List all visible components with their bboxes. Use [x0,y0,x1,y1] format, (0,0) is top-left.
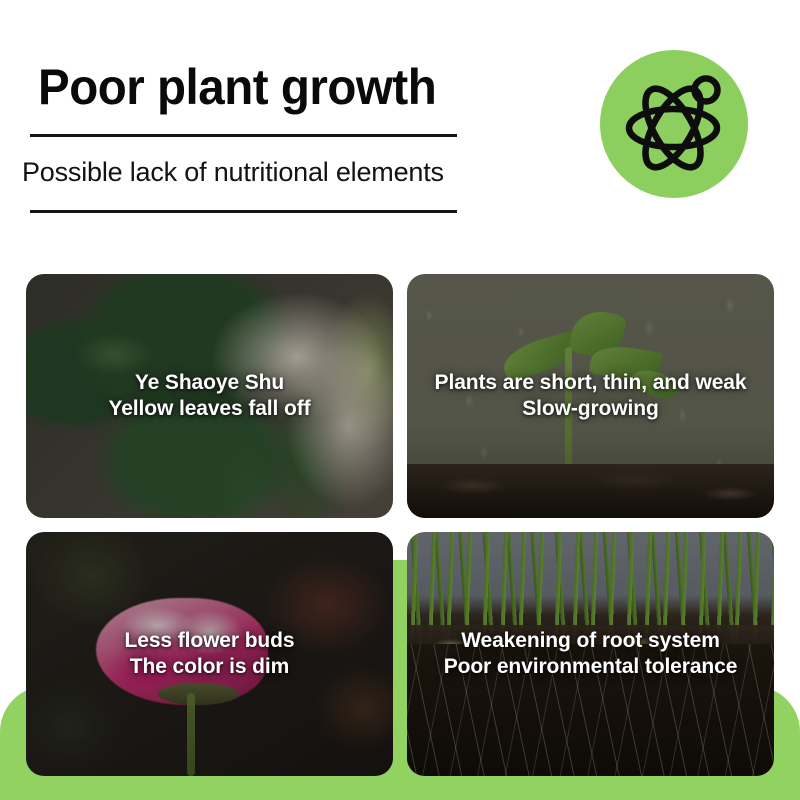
card-caption: Weakening of root system Poor environmen… [434,628,748,680]
card-caption-line1: Weakening of root system [461,629,720,652]
infographic-poster: Poor plant growth Possible lack of nutri… [0,0,800,800]
divider-top [30,134,457,137]
card-caption: Ye Shaoye Shu Yellow leaves fall off [98,370,320,422]
card-grid: Ye Shaoye Shu Yellow leaves fall off Pla… [26,274,774,776]
atom-badge [600,50,748,198]
card-weak-root-system[interactable]: Weakening of root system Poor environmen… [407,532,774,776]
card-fewer-flower-buds[interactable]: Less flower buds The color is dim [26,532,393,776]
card-caption: Less flower buds The color is dim [115,628,305,680]
card-caption: Plants are short, thin, and weak Slow-gr… [425,370,757,422]
divider-bottom [30,210,457,213]
card-caption-line1: Less flower buds [125,629,295,652]
card-caption-line2: The color is dim [125,654,295,680]
card-caption-line2: Slow-growing [435,396,747,422]
card-yellow-leaves[interactable]: Ye Shaoye Shu Yellow leaves fall off [26,274,393,518]
atom-icon [618,68,730,180]
card-caption-line1: Plants are short, thin, and weak [435,371,747,394]
page-subtitle: Possible lack of nutritional elements [22,155,444,189]
card-caption-line2: Poor environmental tolerance [444,654,738,680]
card-short-weak-plants[interactable]: Plants are short, thin, and weak Slow-gr… [407,274,774,518]
card-caption-line2: Yellow leaves fall off [108,396,310,422]
card-caption-line1: Ye Shaoye Shu [135,371,284,394]
page-title: Poor plant growth [38,58,436,116]
